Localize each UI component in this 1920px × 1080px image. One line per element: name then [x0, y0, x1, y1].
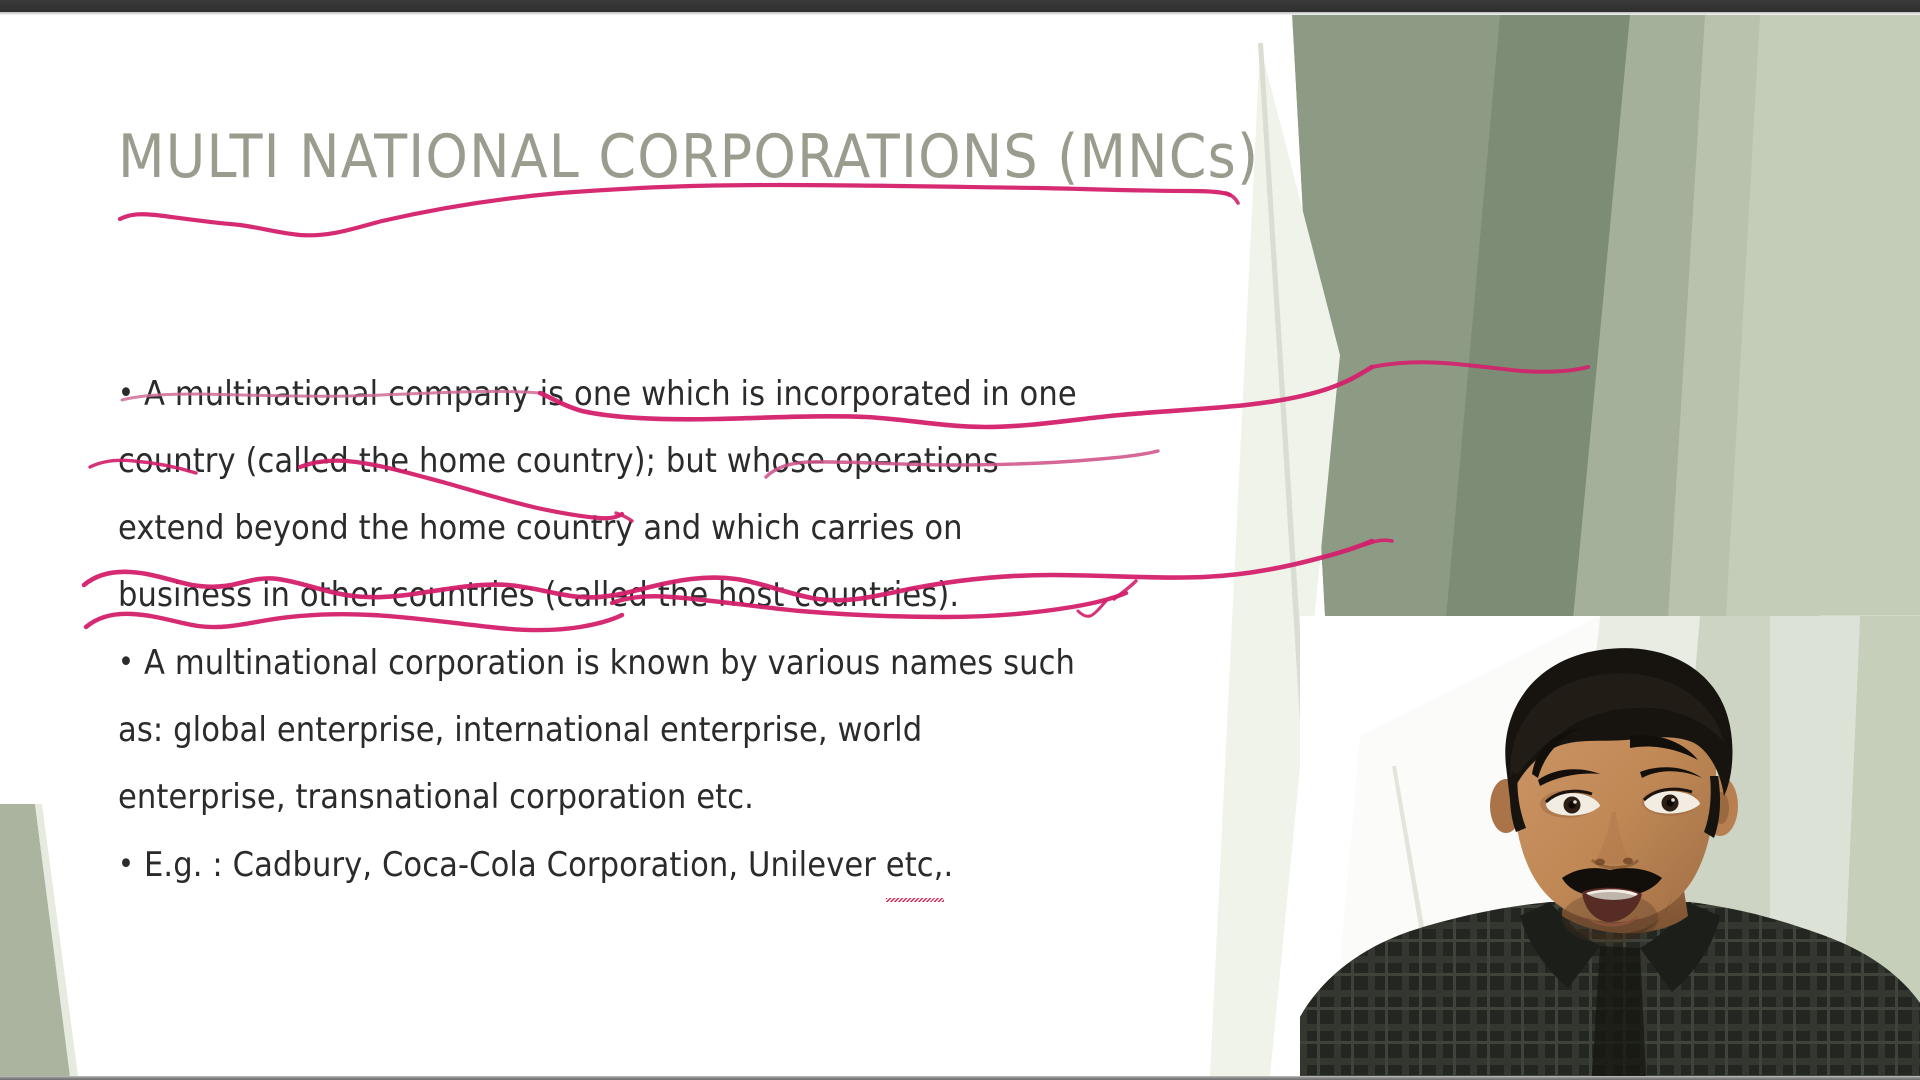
body-line-7: enterprise, transnational corporation et…	[118, 764, 1298, 831]
slide-canvas: MULTI NATIONAL CORPORATIONS (MNCs) •A mu…	[0, 15, 1920, 1076]
slide-body-text: •A multinational company is one which is…	[118, 360, 1298, 899]
body-line-4-text: business in other countries (called the …	[118, 575, 959, 615]
bullet-marker: •	[118, 360, 144, 427]
screen-share-frame: MULTI NATIONAL CORPORATIONS (MNCs) •A mu…	[0, 0, 1920, 1080]
window-top-hairline	[0, 12, 1920, 15]
body-line-7-text: enterprise, transnational corporation et…	[118, 777, 754, 817]
body-line-6-text: as: global enterprise, international ent…	[118, 710, 922, 750]
bullet-marker: •	[118, 629, 144, 696]
body-line-2-text: country (called the home country); but w…	[118, 441, 999, 481]
body-line-3: extend beyond the home country and which…	[118, 495, 1298, 562]
body-line-5-text: A multinational corporation is known by …	[144, 643, 1075, 683]
body-line-8: •E.g. : Cadbury, Coca-Cola Corporation, …	[118, 831, 1298, 899]
bullet-marker: •	[118, 831, 144, 898]
body-line-1: •A multinational company is one which is…	[118, 360, 1298, 428]
slide-title: MULTI NATIONAL CORPORATIONS (MNCs)	[118, 122, 1259, 192]
body-line-8-text-pre: E.g. : Cadbury, Coca-Cola Corporation, U…	[144, 845, 886, 885]
body-line-2: country (called the home country); but w…	[118, 428, 1298, 495]
body-line-3-text: extend beyond the home country and which…	[118, 508, 963, 548]
body-line-1-text: A multinational company is one which is …	[144, 374, 1077, 414]
body-line-5: •A multinational corporation is known by…	[118, 629, 1298, 697]
window-top-bar	[0, 0, 1920, 12]
body-line-6: as: global enterprise, international ent…	[118, 697, 1298, 764]
spellcheck-underlined-word: etc,	[886, 832, 944, 899]
body-line-8-text-post: .	[944, 845, 954, 885]
presenter-video-overlay[interactable]	[1300, 616, 1920, 1076]
window-bottom-hairline	[0, 1076, 1920, 1080]
body-line-4: business in other countries (called the …	[118, 562, 1298, 629]
